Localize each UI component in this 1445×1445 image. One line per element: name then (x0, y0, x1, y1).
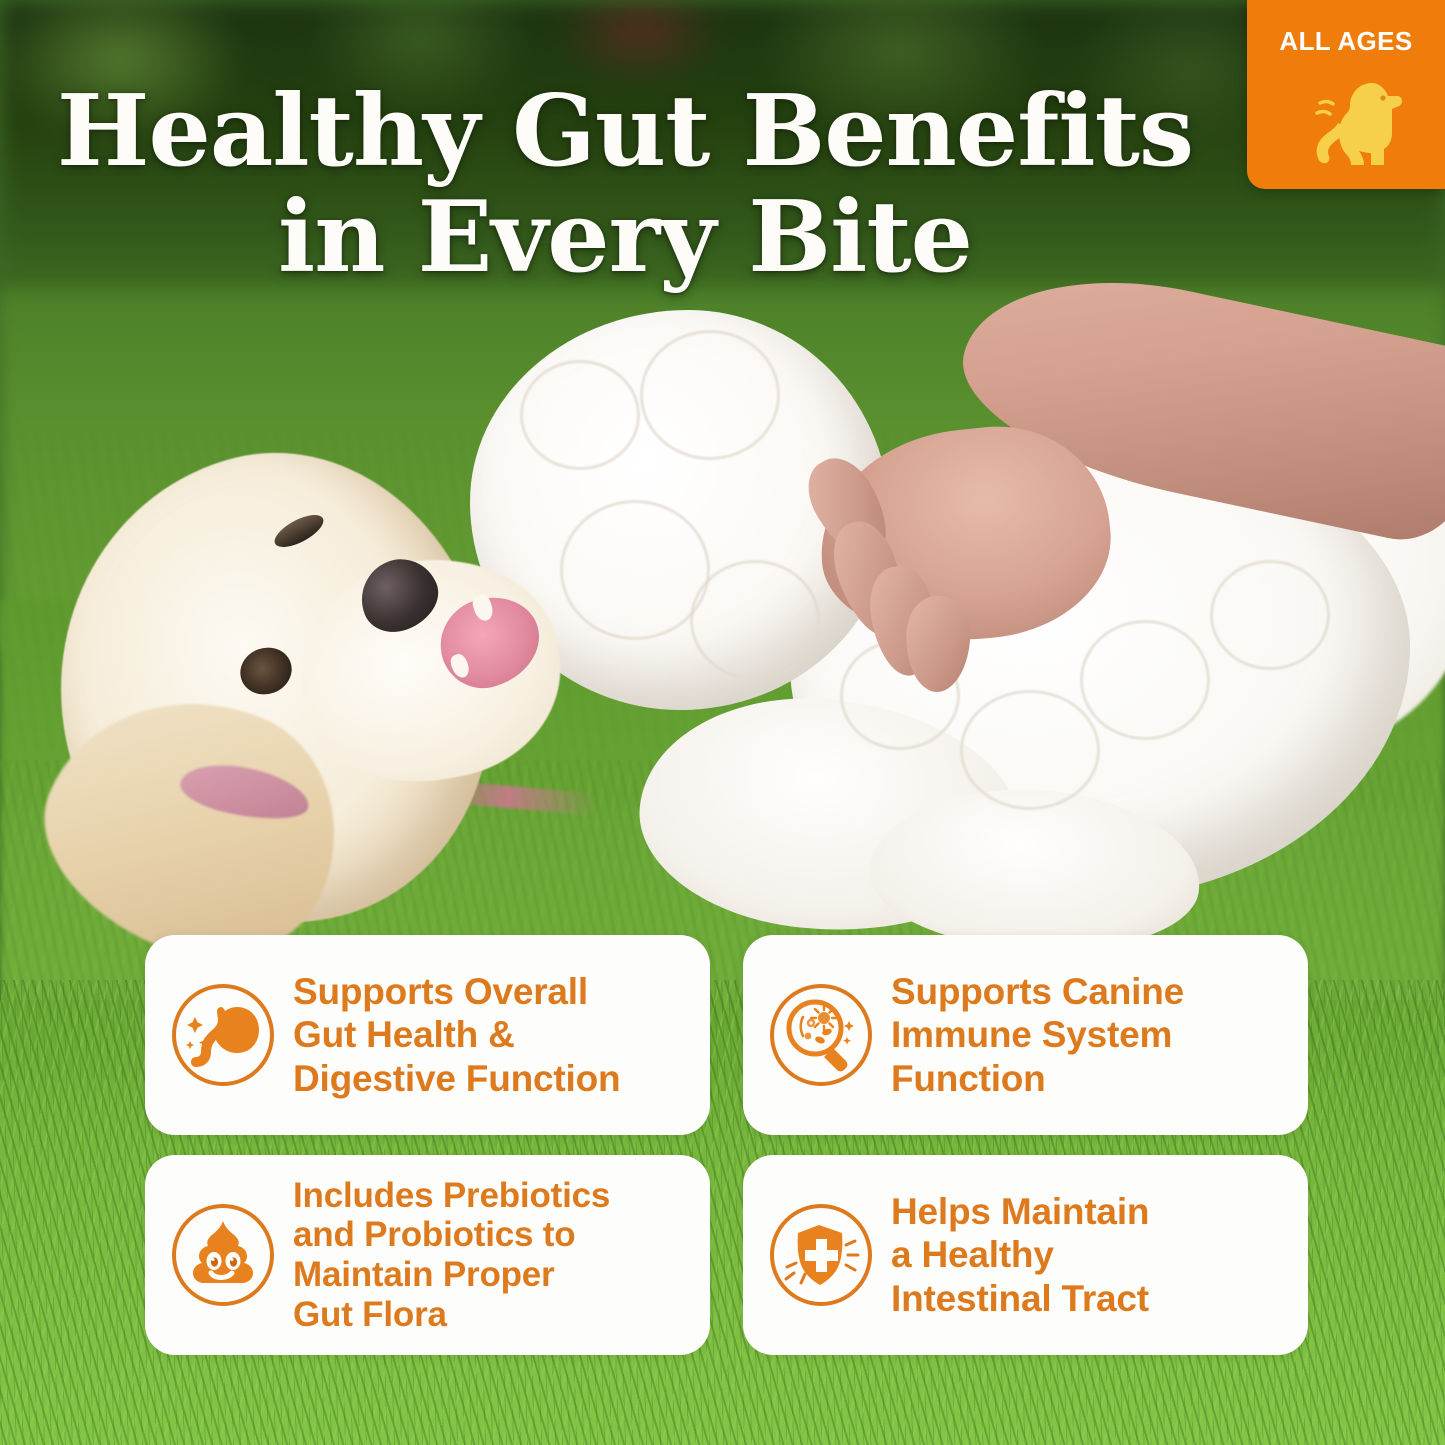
benefit-card-text: Supports Canine Immune System Function (891, 970, 1184, 1101)
benefit-card-text: Helps Maintain a Healthy Intestinal Trac… (891, 1190, 1149, 1321)
all-ages-badge: ALL AGES (1247, 0, 1445, 189)
benefit-line: Supports Overall (293, 970, 620, 1014)
benefit-card-intestinal-tract[interactable]: Helps Maintain a Healthy Intestinal Trac… (743, 1155, 1308, 1355)
sitting-dog-icon (1290, 65, 1402, 174)
fur-curl (1080, 620, 1210, 740)
benefit-line: and Probiotics to (293, 1215, 610, 1255)
stomach-icon (167, 979, 279, 1091)
product-benefits-banner: Healthy Gut Benefits in Every Bite ALL A… (0, 0, 1445, 1445)
all-ages-badge-label: ALL AGES (1279, 26, 1412, 57)
benefits-grid: Supports Overall Gut Health & Digestive … (145, 935, 1308, 1355)
fur-curl (640, 330, 780, 460)
fur-curl (960, 690, 1100, 810)
fur-curl (1210, 560, 1330, 670)
fur-curl (690, 560, 820, 680)
benefit-card-text: Supports Overall Gut Health & Digestive … (293, 970, 620, 1101)
benefit-line: Includes Prebiotics (293, 1176, 610, 1216)
benefit-card-immune-system[interactable]: Supports Canine Immune System Function (743, 935, 1308, 1135)
fur-curl (560, 500, 710, 640)
benefit-line: Gut Health & (293, 1013, 620, 1057)
benefit-card-gut-health[interactable]: Supports Overall Gut Health & Digestive … (145, 935, 710, 1135)
benefit-card-prebiotics-probiotics[interactable]: Includes Prebiotics and Probiotics to Ma… (145, 1155, 710, 1355)
headline-line-1: Healthy Gut Benefits (57, 74, 1193, 189)
smiling-poop-icon (167, 1199, 279, 1311)
benefit-line: Maintain Proper (293, 1255, 610, 1295)
fur-curl (520, 360, 640, 470)
benefit-line: Supports Canine (891, 970, 1184, 1014)
benefit-line: Gut Flora (293, 1295, 610, 1335)
benefit-line: Function (891, 1057, 1184, 1101)
headline-line-2: in Every Bite (0, 188, 1250, 288)
benefit-card-text: Includes Prebiotics and Probiotics to Ma… (293, 1176, 610, 1334)
benefit-line: Intestinal Tract (891, 1277, 1149, 1321)
headline: Healthy Gut Benefits in Every Bite (0, 82, 1250, 288)
shield-plus-icon (765, 1199, 877, 1311)
benefit-line: a Healthy (891, 1233, 1149, 1277)
benefit-line: Helps Maintain (891, 1190, 1149, 1234)
benefit-line: Immune System (891, 1013, 1184, 1057)
magnifier-microbes-icon (765, 979, 877, 1091)
benefit-line: Digestive Function (293, 1057, 620, 1101)
